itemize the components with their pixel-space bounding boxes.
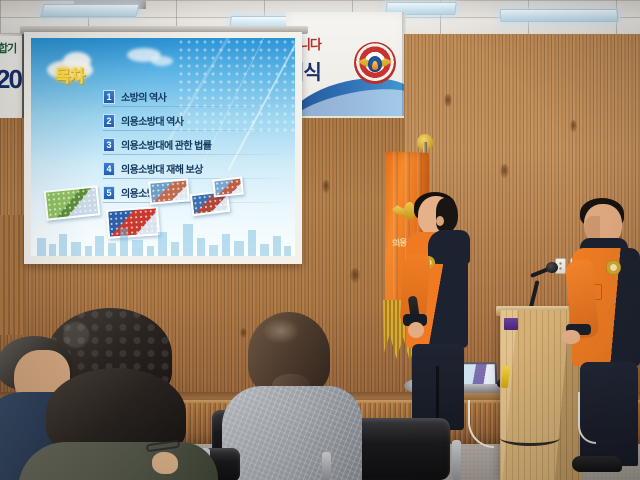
- presenter2-shoe: [572, 456, 622, 472]
- wood-knot: [570, 120, 577, 132]
- presenter-at-podium: [564, 198, 640, 480]
- attendee-ponytail-gray-blazer: [230, 312, 354, 480]
- toc-item: 1 소방의 역사: [103, 86, 285, 107]
- slide-skyline-graphic: [31, 216, 295, 256]
- chair-frame: [452, 440, 461, 480]
- attendee-olive-jacket: [36, 368, 196, 480]
- slide-thumbnail: [148, 178, 190, 204]
- trouser-seam: [436, 366, 439, 424]
- uniform-badge-icon: [606, 260, 621, 275]
- presentation-room-scene: 립니다 여식 합기 20: [0, 0, 640, 480]
- chair-frame: [322, 452, 331, 480]
- thumbnail-texture: [46, 187, 98, 218]
- toc-item: 4 의용소방대 재해 보상: [103, 158, 285, 179]
- ceiling-light-panel: [40, 4, 140, 17]
- attendee-jacket: [18, 442, 218, 480]
- emblem-flame-icon: [372, 61, 378, 70]
- slide-thumbnail: [212, 176, 244, 197]
- slide-cloud: [151, 56, 173, 66]
- left-poster-line2: 20: [0, 64, 21, 95]
- toc-item-number: 3: [103, 138, 115, 152]
- wood-knot: [322, 180, 330, 193]
- power-cable: [578, 392, 596, 444]
- floor-cable: [500, 430, 560, 446]
- presenter-hand: [408, 322, 424, 338]
- toc-item-number: 4: [103, 162, 115, 176]
- thumbnail-texture: [214, 179, 241, 196]
- left-wood-strip: [0, 215, 24, 335]
- toc-item-label: 의용소방대 역사: [121, 113, 183, 128]
- presenter-with-microphone: [400, 196, 472, 426]
- attendee-blazer: [222, 386, 362, 480]
- left-poster-line1: 합기: [0, 40, 16, 56]
- wood-knot: [350, 268, 360, 283]
- toc-item-number: 2: [103, 114, 115, 128]
- toc-item-label: 소방의 역사: [121, 89, 166, 104]
- presentation-slide: 목차 1 소방의 역사 2 의용소방대 역사 3 의용소방대에 관한 법률 4 …: [31, 38, 295, 256]
- toc-item: 2 의용소방대 역사: [103, 110, 285, 131]
- microphone-head-icon: [546, 262, 558, 273]
- presenter-hair-back: [436, 198, 458, 232]
- toc-item-label: 의용소방대 재해 보상: [121, 161, 203, 176]
- slide-title: 목차: [55, 62, 84, 87]
- switch-detail: [558, 261, 563, 271]
- attendee-hand: [152, 452, 178, 474]
- wood-knot: [444, 94, 452, 107]
- toc-item-label: 의용소방대에 관한 법률: [121, 137, 211, 152]
- presenter-ear: [436, 216, 444, 226]
- left-wall-poster: 합기 20: [0, 36, 22, 128]
- fire-service-emblem-icon: [354, 42, 396, 84]
- projector-screen: 목차 1 소방의 역사 2 의용소방대 역사 3 의용소방대에 관한 법률 4 …: [24, 32, 302, 264]
- ceiling-light-panel: [500, 9, 619, 22]
- podium-plaque: [504, 318, 518, 330]
- toc-item-number: 1: [103, 90, 115, 104]
- attendee-hair-highlight: [262, 318, 300, 344]
- gooseneck-microphone[interactable]: [516, 262, 554, 310]
- presenter2-hand: [562, 330, 580, 344]
- wood-knot: [500, 164, 509, 178]
- toc-item: 3 의용소방대에 관한 법률: [103, 134, 285, 155]
- thumbnail-texture: [150, 180, 188, 202]
